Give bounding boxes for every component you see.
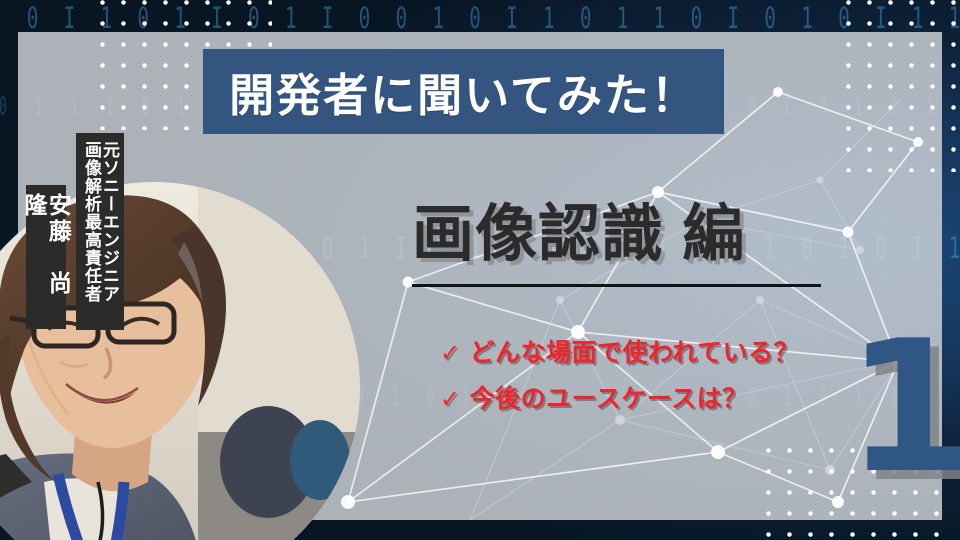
bullet-text: 今後のユースケースは？: [470, 379, 748, 415]
bullet-item: ✓ どんな場面で使われている？: [440, 333, 799, 369]
bullet-item: ✓ 今後のユースケースは？: [440, 379, 799, 415]
title-banner-text: 開発者に聞いてみた！: [229, 59, 698, 124]
check-icon: ✓: [440, 339, 461, 368]
speaker-title-label: 画像解析最高責任者 元ソニーエンジニア: [76, 133, 124, 330]
check-icon: ✓: [440, 385, 461, 414]
slide-canvas: 1 0 I 1 0 1 I 0 1 I 0 0 1 0 I 1 0 1 1 0 …: [0, 0, 960, 540]
speaker-title-line-2: 画像解析最高責任者: [82, 141, 100, 303]
speaker-title-line-1: 元ソニーエンジニア: [100, 141, 118, 303]
bullet-list: ✓ どんな場面で使われている？ ✓ 今後のユースケースは？: [440, 333, 799, 415]
speaker-name-label: 安藤 尚隆: [26, 185, 66, 329]
title-banner: 開発者に聞いてみた！: [203, 49, 724, 134]
headline-divider: [412, 284, 821, 287]
bullet-text: どんな場面で使われている？: [470, 333, 800, 369]
episode-number: 1: [846, 316, 960, 498]
speaker-name: 安藤 尚隆: [22, 193, 71, 321]
headline-text: 画像認識 編: [412, 183, 745, 273]
